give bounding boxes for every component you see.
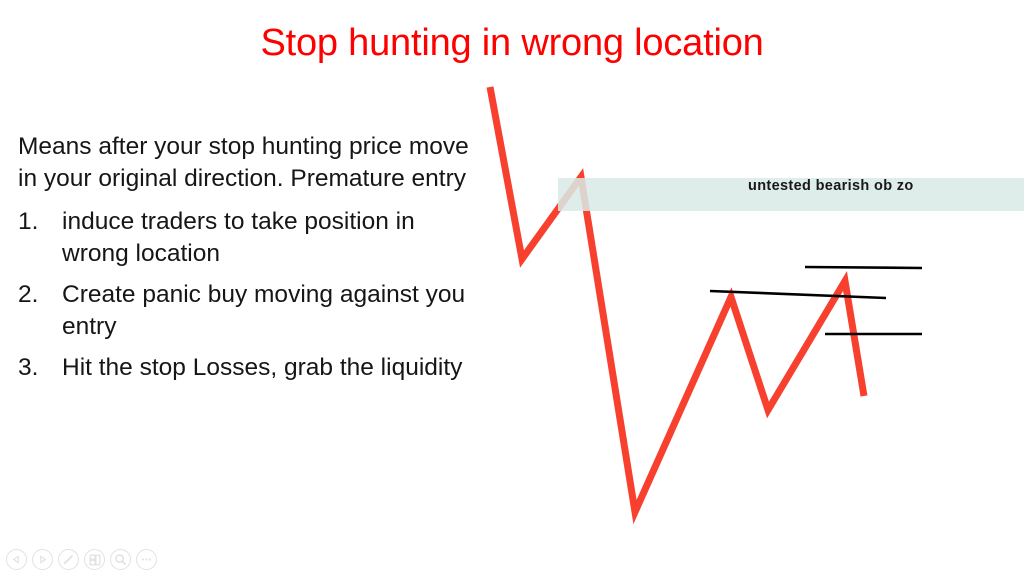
- zoom-icon[interactable]: [110, 549, 131, 570]
- more-options-icon[interactable]: [136, 549, 157, 570]
- list-marker: 1.: [18, 206, 62, 238]
- text-column: Means after your stop hunting price move…: [18, 131, 480, 393]
- list-marker: 2.: [18, 279, 62, 311]
- upper-level-line: [805, 267, 922, 268]
- list-marker: 3.: [18, 352, 62, 384]
- presentation-toolbar[interactable]: [6, 549, 157, 570]
- pen-icon[interactable]: [58, 549, 79, 570]
- middle-level-line: [710, 291, 886, 298]
- list-item-text: induce traders to take position in wrong…: [62, 206, 480, 270]
- page-title: Stop hunting in wrong location: [0, 20, 1024, 66]
- slides-grid-icon[interactable]: [84, 549, 105, 570]
- list-item: 2. Create panic buy moving against you e…: [18, 279, 480, 343]
- next-slide-icon[interactable]: [32, 549, 53, 570]
- previous-slide-icon[interactable]: [6, 549, 27, 570]
- intro-paragraph: Means after your stop hunting price move…: [18, 131, 470, 195]
- list-item: 3. Hit the stop Losses, grab the liquidi…: [18, 352, 480, 384]
- price-path-line: [490, 87, 864, 512]
- list-item-text: Create panic buy moving against you entr…: [62, 279, 480, 343]
- ob-zone-label: untested bearish ob zo: [748, 176, 914, 196]
- list-item: 1. induce traders to take position in wr…: [18, 206, 480, 270]
- list-item-text: Hit the stop Losses, grab the liquidity: [62, 352, 480, 384]
